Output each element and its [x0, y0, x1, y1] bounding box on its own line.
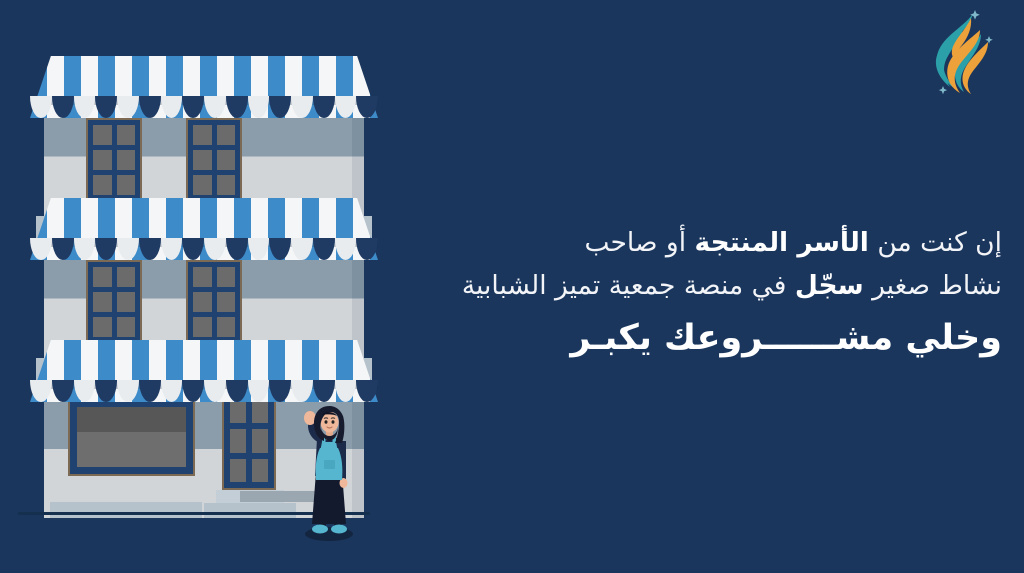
copy-line-1-prefix: إن كنت من — [869, 227, 1002, 258]
door-pane — [252, 459, 268, 482]
window-pane — [193, 175, 212, 195]
shop-door — [222, 392, 276, 490]
window-pane — [217, 150, 236, 170]
third-floor-awning — [30, 56, 378, 118]
window-pane — [193, 150, 212, 170]
window-pane — [217, 175, 236, 195]
window-pane — [193, 267, 212, 287]
window-pane — [193, 317, 212, 337]
copy-line-2-prefix: نشاط صغير — [864, 270, 1002, 301]
door-pane — [252, 429, 268, 452]
shop-window-glass — [77, 407, 186, 467]
window-pane — [93, 175, 112, 195]
copy-line-2-suffix: في منصة جمعية تميز الشبابية — [462, 270, 795, 301]
third-floor-window-left — [86, 118, 142, 202]
window-pane — [93, 125, 112, 145]
window-pane — [117, 267, 136, 287]
door-pane — [252, 400, 268, 423]
second-floor-window-left — [86, 260, 142, 344]
window-pane — [117, 175, 136, 195]
window-pane — [193, 125, 212, 145]
left-plinth — [50, 502, 202, 518]
copy-line-1-suffix: أو صاحب — [585, 227, 695, 258]
shop-display-window — [68, 398, 195, 476]
copy-line-1: إن كنت من الأسر المنتجة أو صاحب — [302, 222, 1002, 265]
poster-canvas: إن كنت من الأسر المنتجة أو صاحب نشاط صغي… — [0, 0, 1024, 573]
copy-line-2: نشاط صغير سجّل في منصة جمعية تميز الشباب… — [302, 265, 1002, 308]
window-pane — [93, 267, 112, 287]
window-pane — [217, 292, 236, 312]
copy-line-2-bold: سجّل — [795, 270, 864, 301]
window-pane — [93, 317, 112, 337]
tamayuz-flame-logo — [918, 8, 1002, 96]
window-pane — [117, 317, 136, 337]
window-pane — [217, 317, 236, 337]
window-pane — [193, 292, 212, 312]
marketing-copy: إن كنت من الأسر المنتجة أو صاحب نشاط صغي… — [302, 222, 1002, 361]
door-step-lower — [204, 503, 296, 518]
window-pane — [217, 267, 236, 287]
window-pane — [117, 125, 136, 145]
copy-line-1-bold: الأسر المنتجة — [695, 227, 869, 258]
door-pane — [230, 400, 246, 423]
awning-scallop-edge — [30, 96, 378, 118]
door-pane — [230, 459, 246, 482]
third-floor-window-right — [186, 118, 242, 202]
window-pane — [93, 292, 112, 312]
window-pane — [93, 150, 112, 170]
window-pane — [217, 125, 236, 145]
second-floor-window-right — [186, 260, 242, 344]
copy-headline: وخلي مشــــــروعك يكبـر — [302, 316, 1002, 362]
shop-owner-woman-waving — [298, 398, 358, 542]
window-pane — [117, 292, 136, 312]
window-pane — [117, 150, 136, 170]
door-pane — [230, 429, 246, 452]
